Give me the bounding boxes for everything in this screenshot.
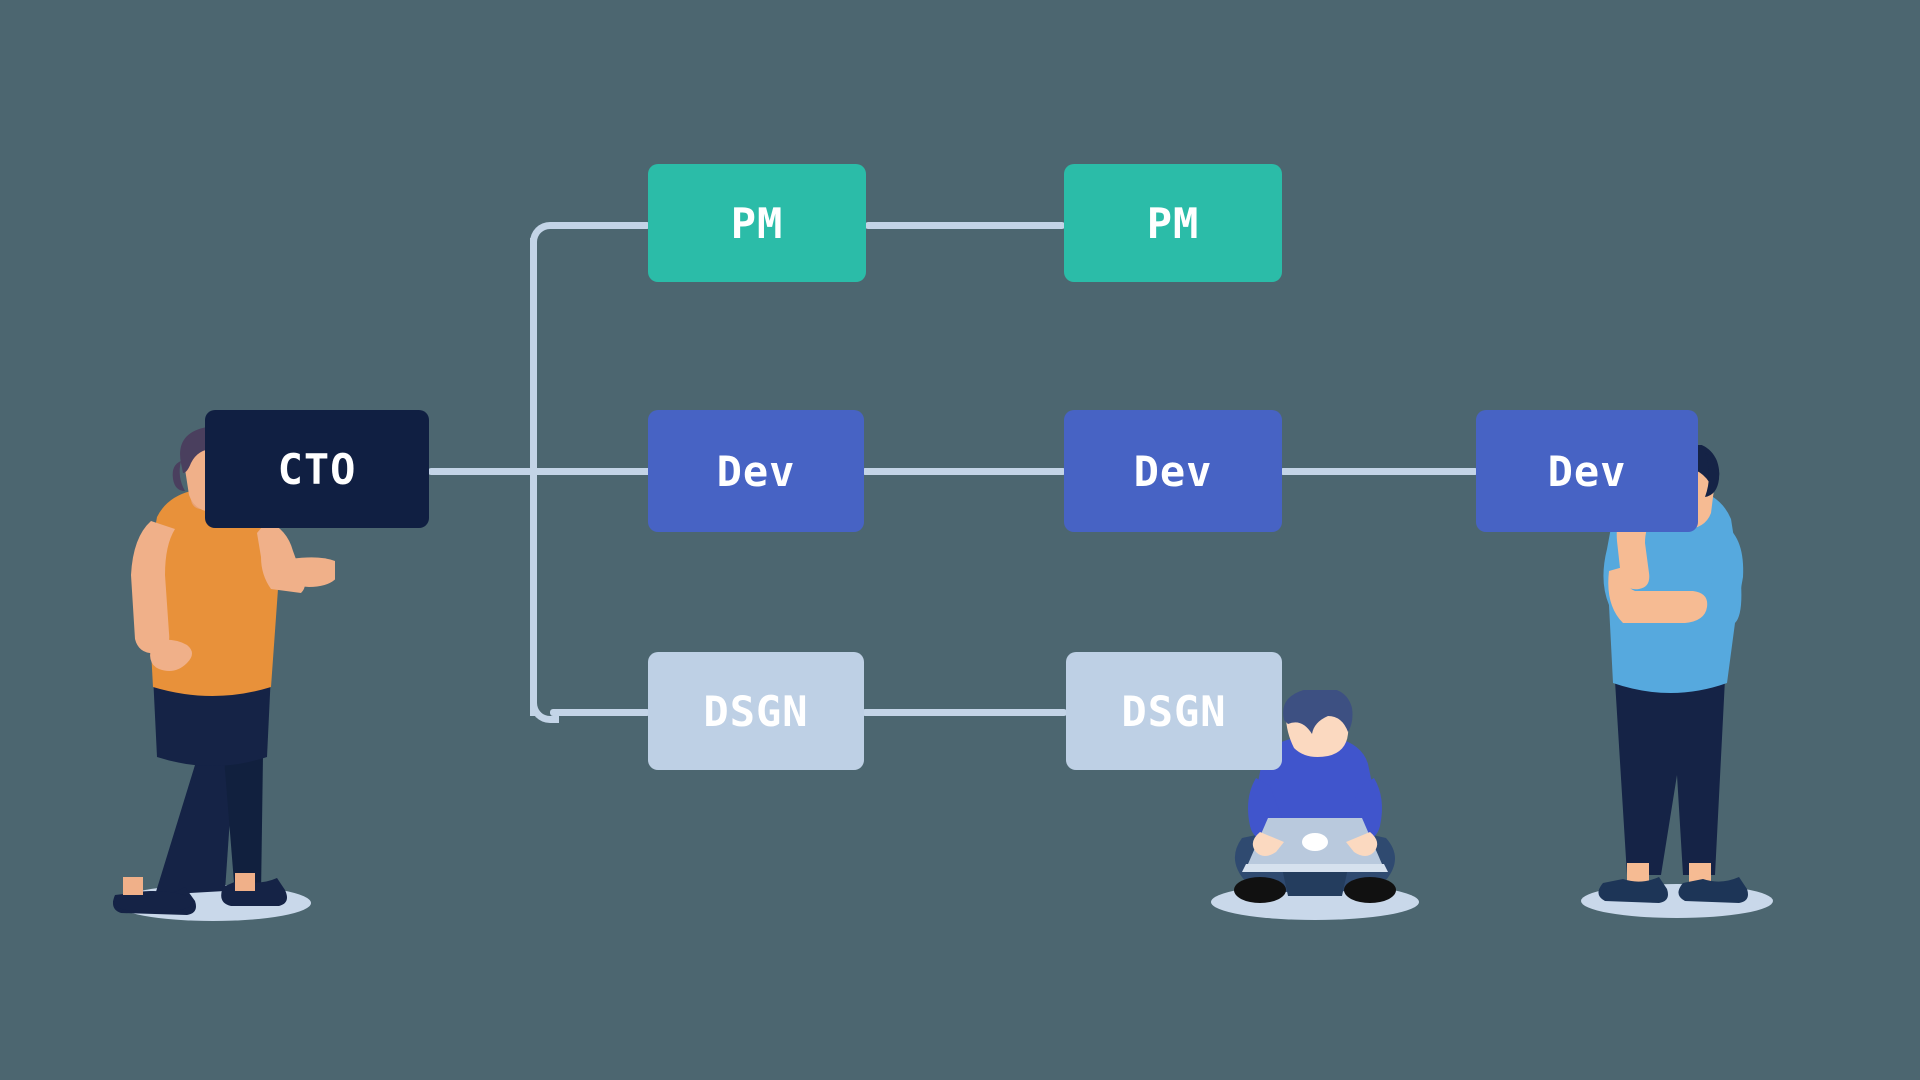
connector-vertical-trunk: [530, 238, 537, 716]
connector-dsgn1-to-dsgn2: [862, 709, 1067, 716]
node-dev-1[interactable]: Dev: [648, 410, 864, 532]
connector-trunk-to-dsgn1: [550, 709, 650, 716]
node-dsgn-2[interactable]: DSGN: [1066, 652, 1282, 770]
node-dev-3-label: Dev: [1548, 447, 1627, 496]
node-pm-1-label: PM: [731, 199, 784, 248]
node-dev-1-label: Dev: [717, 447, 796, 496]
node-dev-3[interactable]: Dev: [1476, 410, 1698, 532]
node-cto[interactable]: CTO: [205, 410, 429, 528]
connector-pm1-to-pm2: [865, 222, 1065, 229]
node-dev-2-label: Dev: [1134, 447, 1213, 496]
connector-dev1-to-dev2: [862, 468, 1066, 475]
node-dsgn-1-label: DSGN: [703, 687, 808, 736]
diagram-canvas: CTO PM PM Dev Dev Dev DSGN DSGN: [0, 0, 1920, 1080]
node-cto-label: CTO: [278, 445, 357, 494]
connector-dev2-to-dev3: [1280, 468, 1478, 475]
node-pm-2-label: PM: [1147, 199, 1200, 248]
node-dsgn-1[interactable]: DSGN: [648, 652, 864, 770]
node-pm-2[interactable]: PM: [1064, 164, 1282, 282]
node-pm-1[interactable]: PM: [648, 164, 866, 282]
connector-cto-to-trunk: [428, 468, 538, 475]
connector-trunk-to-pm1: [550, 222, 650, 229]
connector-trunk-to-dev1: [530, 468, 652, 475]
node-dev-2[interactable]: Dev: [1064, 410, 1282, 532]
node-dsgn-2-label: DSGN: [1121, 687, 1226, 736]
